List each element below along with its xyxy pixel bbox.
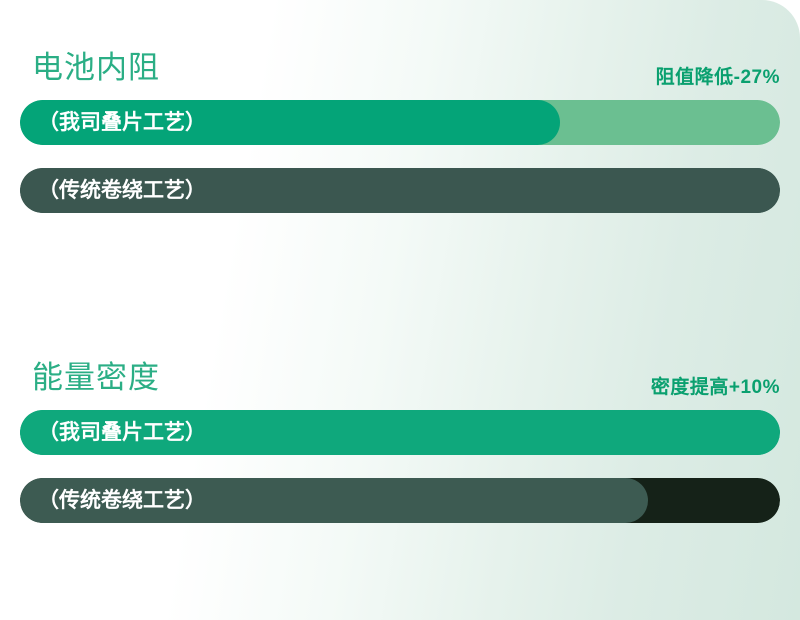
bar-list-resistance: （我司叠片工艺） （传统卷绕工艺）: [20, 100, 780, 213]
bar-row-density-ours: （我司叠片工艺）: [20, 410, 780, 455]
status-badge-resistance: 阻值降低-27%: [656, 62, 780, 89]
bar-label-ours: （我司叠片工艺）: [38, 100, 206, 145]
bar-list-density: （我司叠片工艺） （传统卷绕工艺）: [20, 410, 780, 523]
bar-label-traditional: （传统卷绕工艺）: [38, 478, 206, 523]
bar-row-resistance-traditional: （传统卷绕工艺）: [20, 168, 780, 213]
metric-header-density: 能量密度 密度提高+10%: [20, 350, 780, 410]
page-title-resistance: 电池内阻: [32, 42, 160, 87]
infographic-card: 电池内阻 阻值降低-27% （我司叠片工艺） （传统卷绕工艺） 能量密度 密度提…: [0, 0, 800, 620]
page-title-density: 能量密度: [32, 352, 160, 397]
metric-header-resistance: 电池内阻 阻值降低-27%: [20, 40, 780, 100]
bar-row-resistance-ours: （我司叠片工艺）: [20, 100, 780, 145]
metric-section-resistance: 电池内阻 阻值降低-27% （我司叠片工艺） （传统卷绕工艺）: [0, 40, 800, 213]
bar-label-traditional: （传统卷绕工艺）: [38, 168, 206, 213]
bar-label-ours: （我司叠片工艺）: [38, 410, 206, 455]
metric-section-density: 能量密度 密度提高+10% （我司叠片工艺） （传统卷绕工艺）: [0, 350, 800, 523]
status-badge-density: 密度提高+10%: [651, 372, 780, 399]
bar-row-density-traditional: （传统卷绕工艺）: [20, 478, 780, 523]
